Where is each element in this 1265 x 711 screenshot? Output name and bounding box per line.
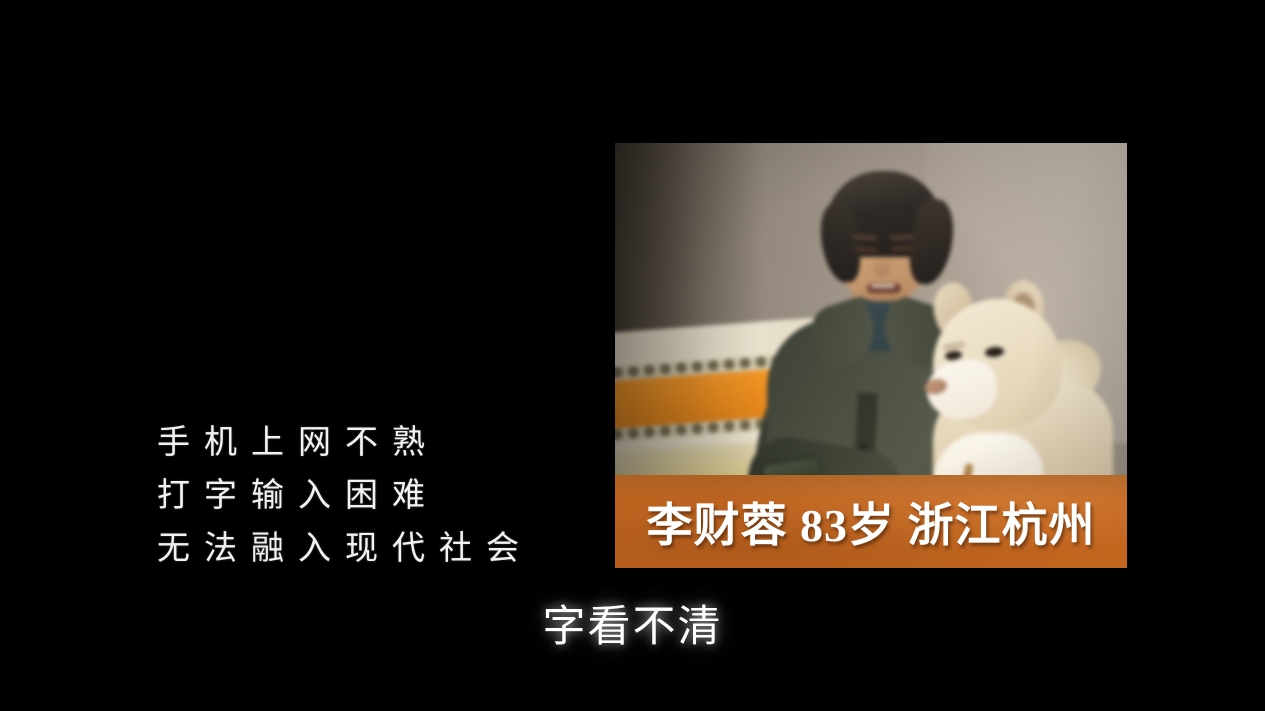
woman-chin-shadow (855, 291, 911, 307)
left-caption-block: 手机上网不熟 打字输入困难 无法融入现代社会 (157, 415, 577, 574)
left-caption-line-1: 手机上网不熟 (157, 415, 577, 468)
name-banner-text: 李财蓉 83岁 浙江杭州 (615, 501, 1127, 551)
left-caption-line-2: 打字输入困难 (157, 468, 577, 521)
woman-teeth (871, 284, 895, 288)
name-banner: 李财蓉 83岁 浙江杭州 (615, 475, 1127, 568)
video-frame: 李财蓉 83岁 浙江杭州 手机上网不熟 打字输入困难 无法融入现代社会 字看不清 (0, 0, 1265, 711)
left-caption-line-3: 无法融入现代社会 (157, 521, 577, 574)
woman-nose (873, 255, 891, 277)
subtitle-text: 字看不清 (0, 601, 1265, 653)
